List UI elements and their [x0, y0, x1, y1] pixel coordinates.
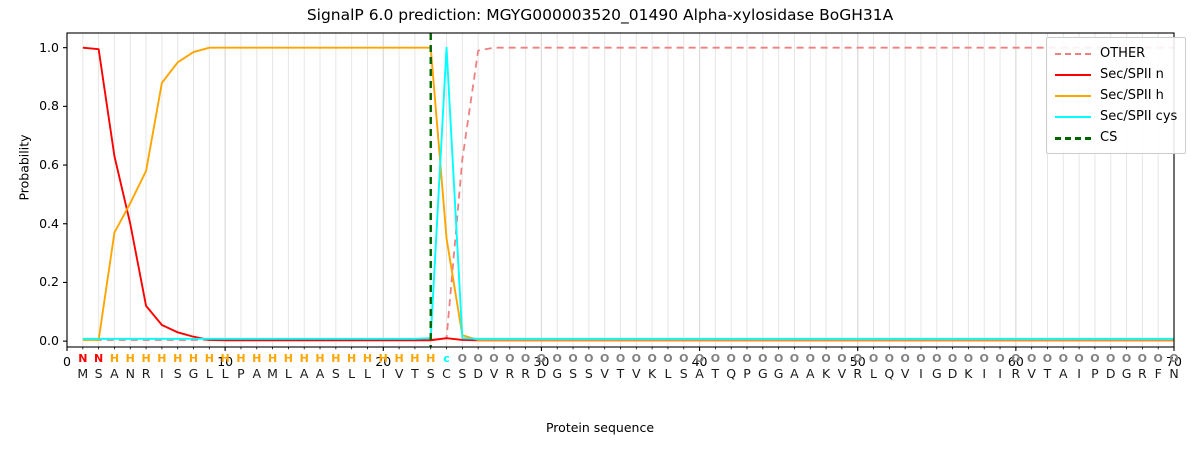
legend-item-cs[interactable]: CS [1055, 127, 1177, 148]
legend-item-label: Sec/SPII cys [1100, 109, 1177, 124]
legend-item-label: Sec/SPII h [1100, 88, 1164, 103]
legend-item-sec-spii-n[interactable]: Sec/SPII n [1055, 64, 1177, 85]
legend-item-other[interactable]: OTHER [1055, 43, 1177, 64]
legend-item-label: CS [1100, 130, 1117, 145]
signalp-prediction-figure: SignalP 6.0 prediction: MGYG000003520_01… [0, 0, 1200, 450]
legend-item-label: Sec/SPII n [1100, 67, 1164, 82]
legend-item-sec-spii-cys[interactable]: Sec/SPII cys [1055, 106, 1177, 127]
legend-item-label: OTHER [1100, 46, 1145, 61]
chart-legend[interactable]: OTHERSec/SPII nSec/SPII hSec/SPII cysCS [1046, 37, 1186, 154]
series-line-sec-spii-h [83, 48, 1174, 340]
series-line-other [83, 48, 1174, 340]
legend-swatch-icon [1055, 111, 1091, 123]
series-line-sec-spii-n [83, 48, 1174, 341]
legend-swatch-icon [1055, 48, 1091, 60]
legend-item-sec-spii-h[interactable]: Sec/SPII h [1055, 85, 1177, 106]
legend-swatch-icon [1055, 90, 1091, 102]
plot-canvas [0, 0, 1200, 450]
legend-swatch-icon [1055, 132, 1091, 144]
legend-swatch-icon [1055, 69, 1091, 81]
series-line-sec-spii-cys [83, 48, 1174, 339]
